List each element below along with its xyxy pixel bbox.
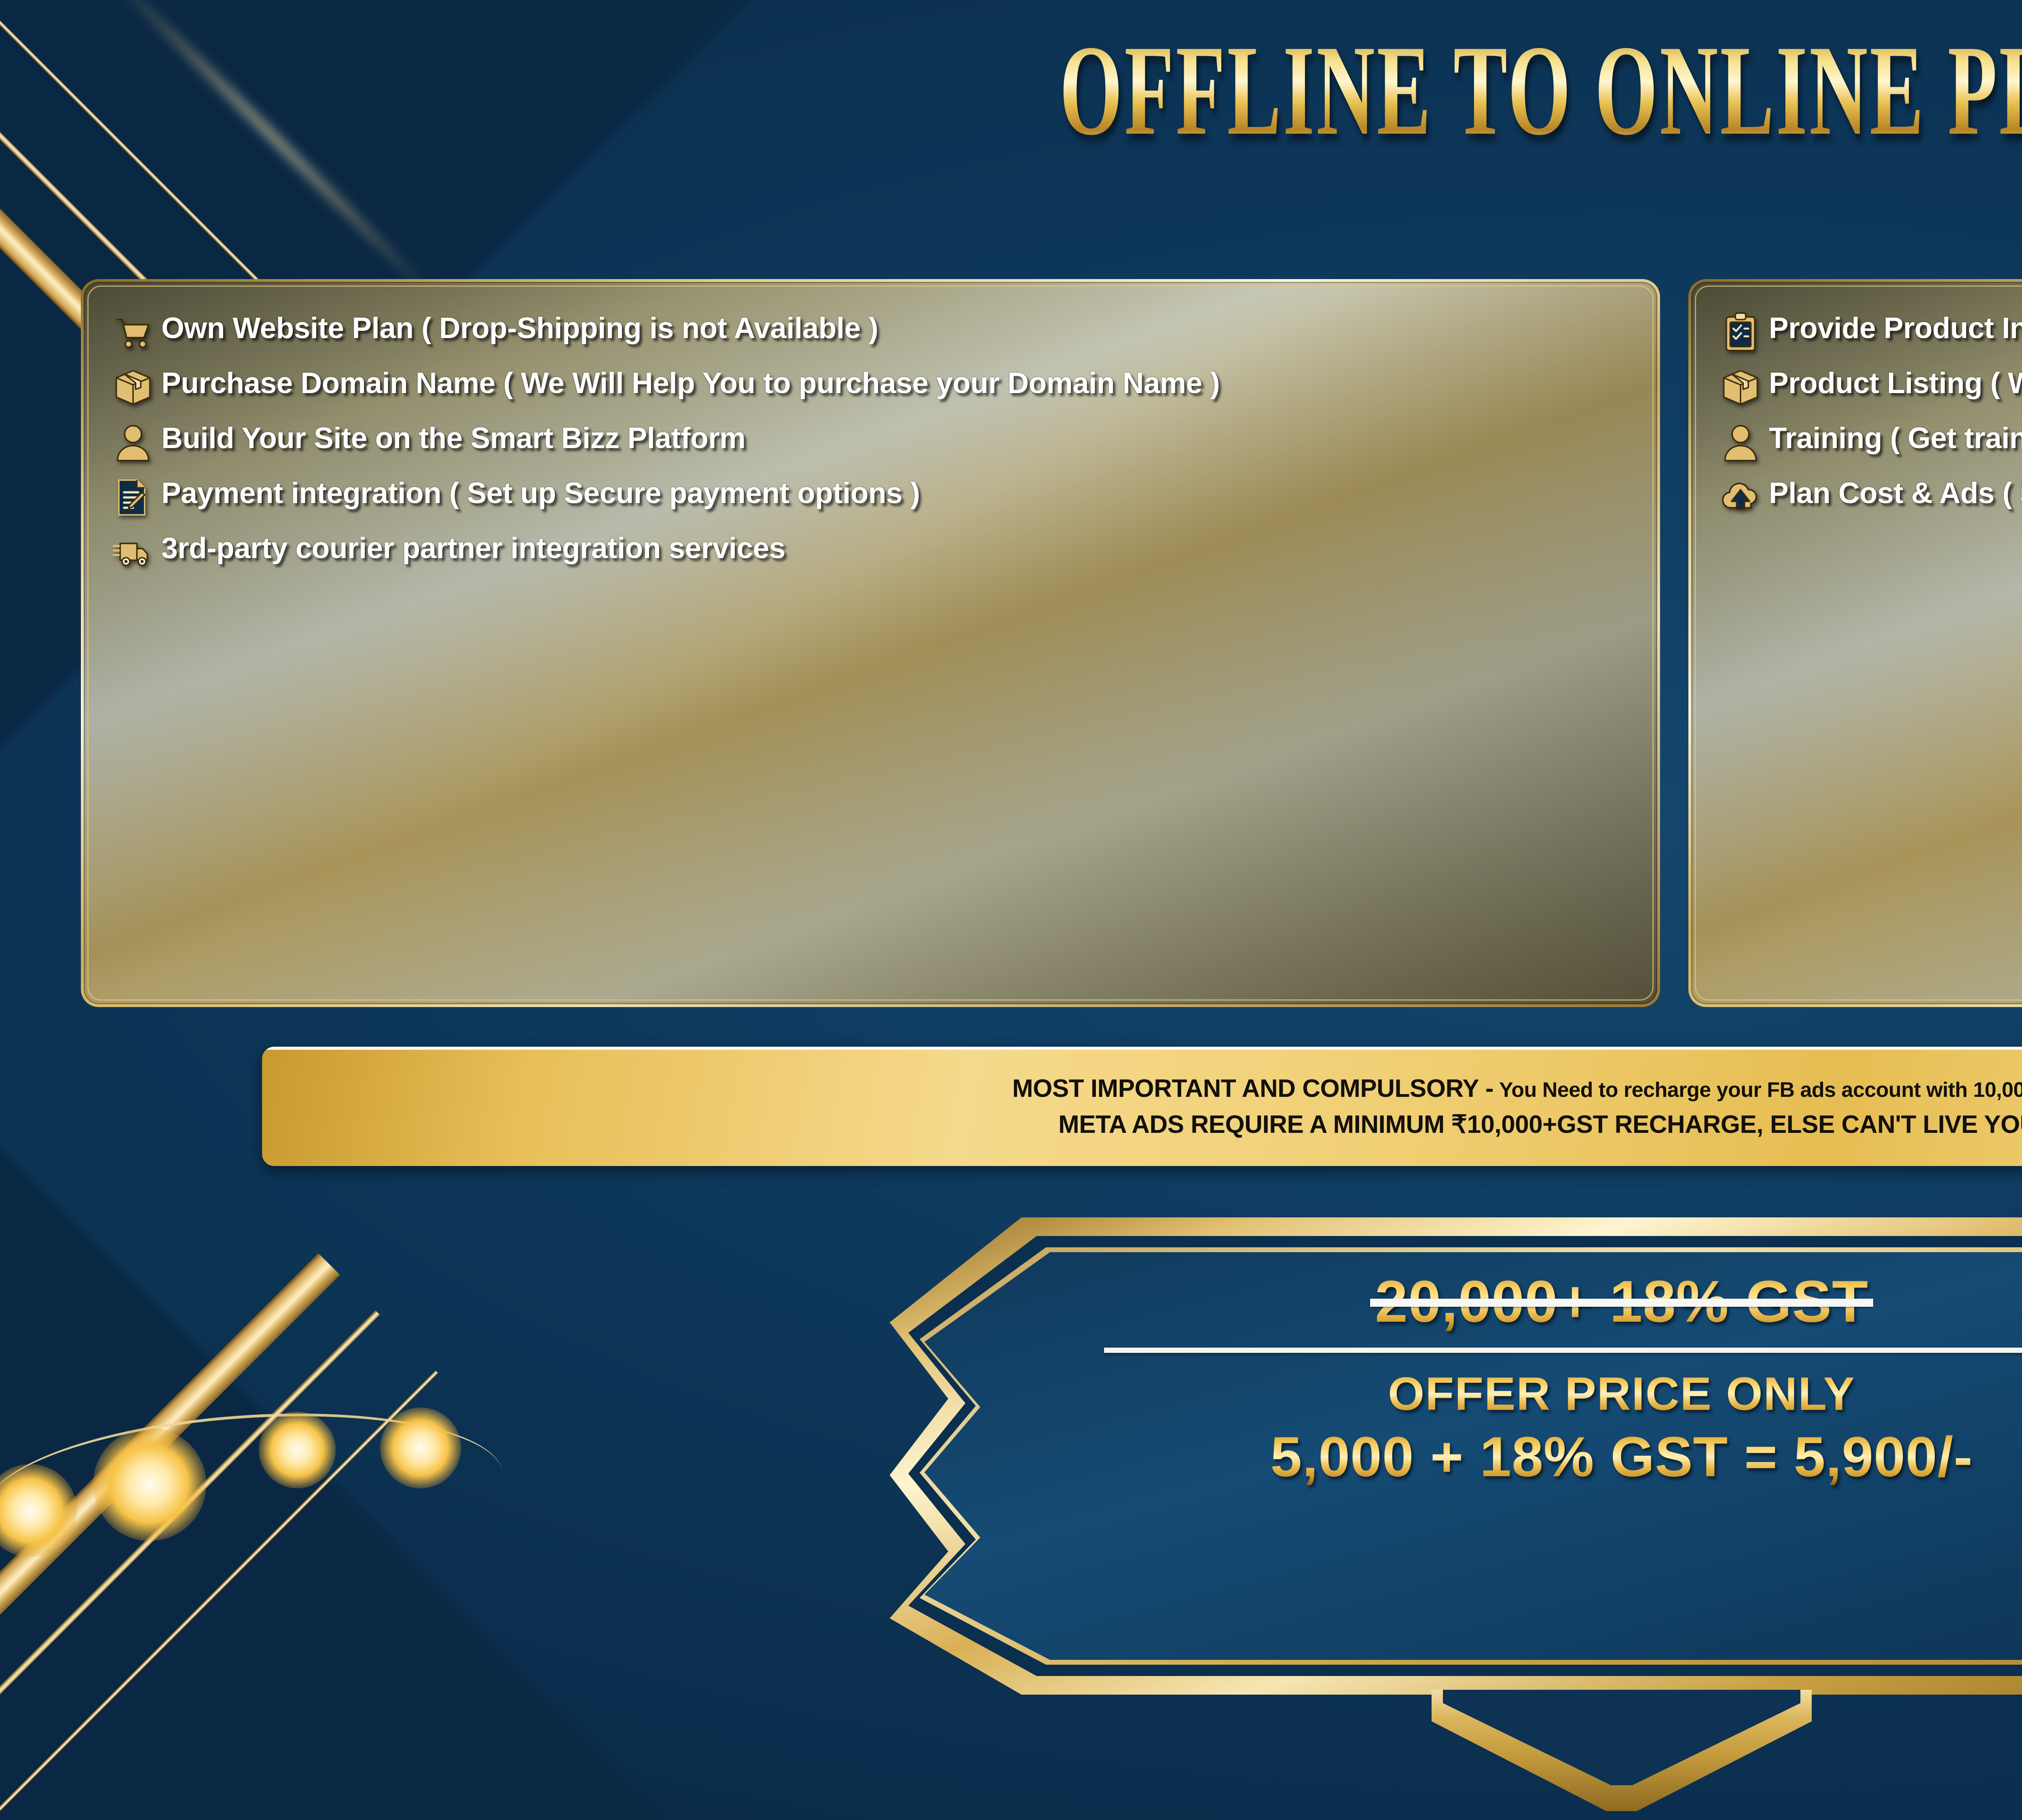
list-item: Payment integration ( Set up Secure paym… — [105, 470, 1639, 521]
features-card-right: Provide Product Info ( Client provides p… — [1688, 279, 2022, 1007]
banner-line-1: MOST IMPORTANT AND COMPULSORY - You Need… — [1012, 1074, 2022, 1103]
list-item: Build Your Site on the Smart Bizz Platfo… — [105, 415, 1639, 466]
delivery-truck-icon — [105, 529, 161, 576]
list-item-label: Payment integration ( Set up Secure paym… — [161, 470, 920, 510]
package-box-icon — [1712, 364, 1769, 411]
list-item-label: Training ( Get training for adding more … — [1769, 415, 2022, 455]
light-bulb — [380, 1407, 461, 1488]
list-item: Training ( Get training for adding more … — [1712, 415, 2022, 466]
list-item: 3rd-party courier partner integration se… — [105, 525, 1639, 576]
string-lights-decoration — [0, 1359, 526, 1569]
list-item-label: Provide Product Info ( Client provides p… — [1769, 305, 2022, 345]
clipboard-checklist-icon — [1712, 309, 1769, 356]
offer-label: OFFER PRICE ONLY — [1388, 1367, 1855, 1421]
banner-line1-strong: MOST IMPORTANT AND COMPULSORY - — [1012, 1074, 1493, 1103]
offer-price: 5,000 + 18% GST = 5,900/- — [1270, 1428, 1973, 1486]
old-price-wrapper: 20,000+ 18% GST — [1375, 1268, 1868, 1335]
list-item-label: 3rd-party courier partner integration se… — [161, 525, 785, 565]
list-item: Purchase Domain Name ( We Will Help You … — [105, 360, 1639, 411]
document-pencil-icon — [105, 474, 161, 521]
list-item: Plan Cost & Ads ( 5,000+ tax ( Plan Fee … — [1712, 470, 2022, 521]
features-card-left: Own Website Plan ( Drop-Shipping is not … — [81, 279, 1660, 1007]
badge-content: 20,000+ 18% GST OFFER PRICE ONLY 5,000 +… — [1011, 1262, 2022, 1650]
banner-line1-normal: You Need to recharge your FB ads account… — [1499, 1078, 2022, 1102]
list-item-label: Product Listing ( We will List 20 produc… — [1769, 360, 2022, 400]
page-title: OFFLINE TO ONLINE PLAN — [324, 16, 2022, 165]
compulsory-notice-banner: MOST IMPORTANT AND COMPULSORY - You Need… — [262, 1047, 2022, 1166]
list-item-label: Plan Cost & Ads ( 5,000+ tax ( Plan Fee … — [1769, 470, 2022, 510]
list-item-label: Purchase Domain Name ( We Will Help You … — [161, 360, 1220, 400]
package-box-icon — [105, 364, 161, 411]
light-bulb — [259, 1412, 336, 1488]
badge-divider — [1104, 1348, 2022, 1353]
price-badge: 20,000+ 18% GST OFFER PRICE ONLY 5,000 +… — [890, 1217, 2022, 1820]
shopping-cart-icon — [105, 309, 161, 356]
user-person-icon — [105, 419, 161, 466]
list-item: Product Listing ( We will List 20 produc… — [1712, 360, 2022, 411]
list-item-label: Build Your Site on the Smart Bizz Platfo… — [161, 415, 746, 455]
feature-list-left: Own Website Plan ( Drop-Shipping is not … — [84, 282, 1657, 1004]
user-person-icon — [1712, 419, 1769, 466]
light-bulb — [93, 1428, 206, 1541]
list-item-label: Own Website Plan ( Drop-Shipping is not … — [161, 305, 878, 345]
list-item: Own Website Plan ( Drop-Shipping is not … — [105, 305, 1639, 356]
list-item: Provide Product Info ( Client provides p… — [1712, 305, 2022, 356]
strikethrough-line — [1370, 1299, 1873, 1307]
banner-line-2: META ADS REQUIRE A MINIMUM ₹10,000+GST R… — [1058, 1109, 2022, 1139]
cloud-upload-icon — [1712, 474, 1769, 521]
feature-list-right: Provide Product Info ( Client provides p… — [1691, 282, 2022, 1004]
